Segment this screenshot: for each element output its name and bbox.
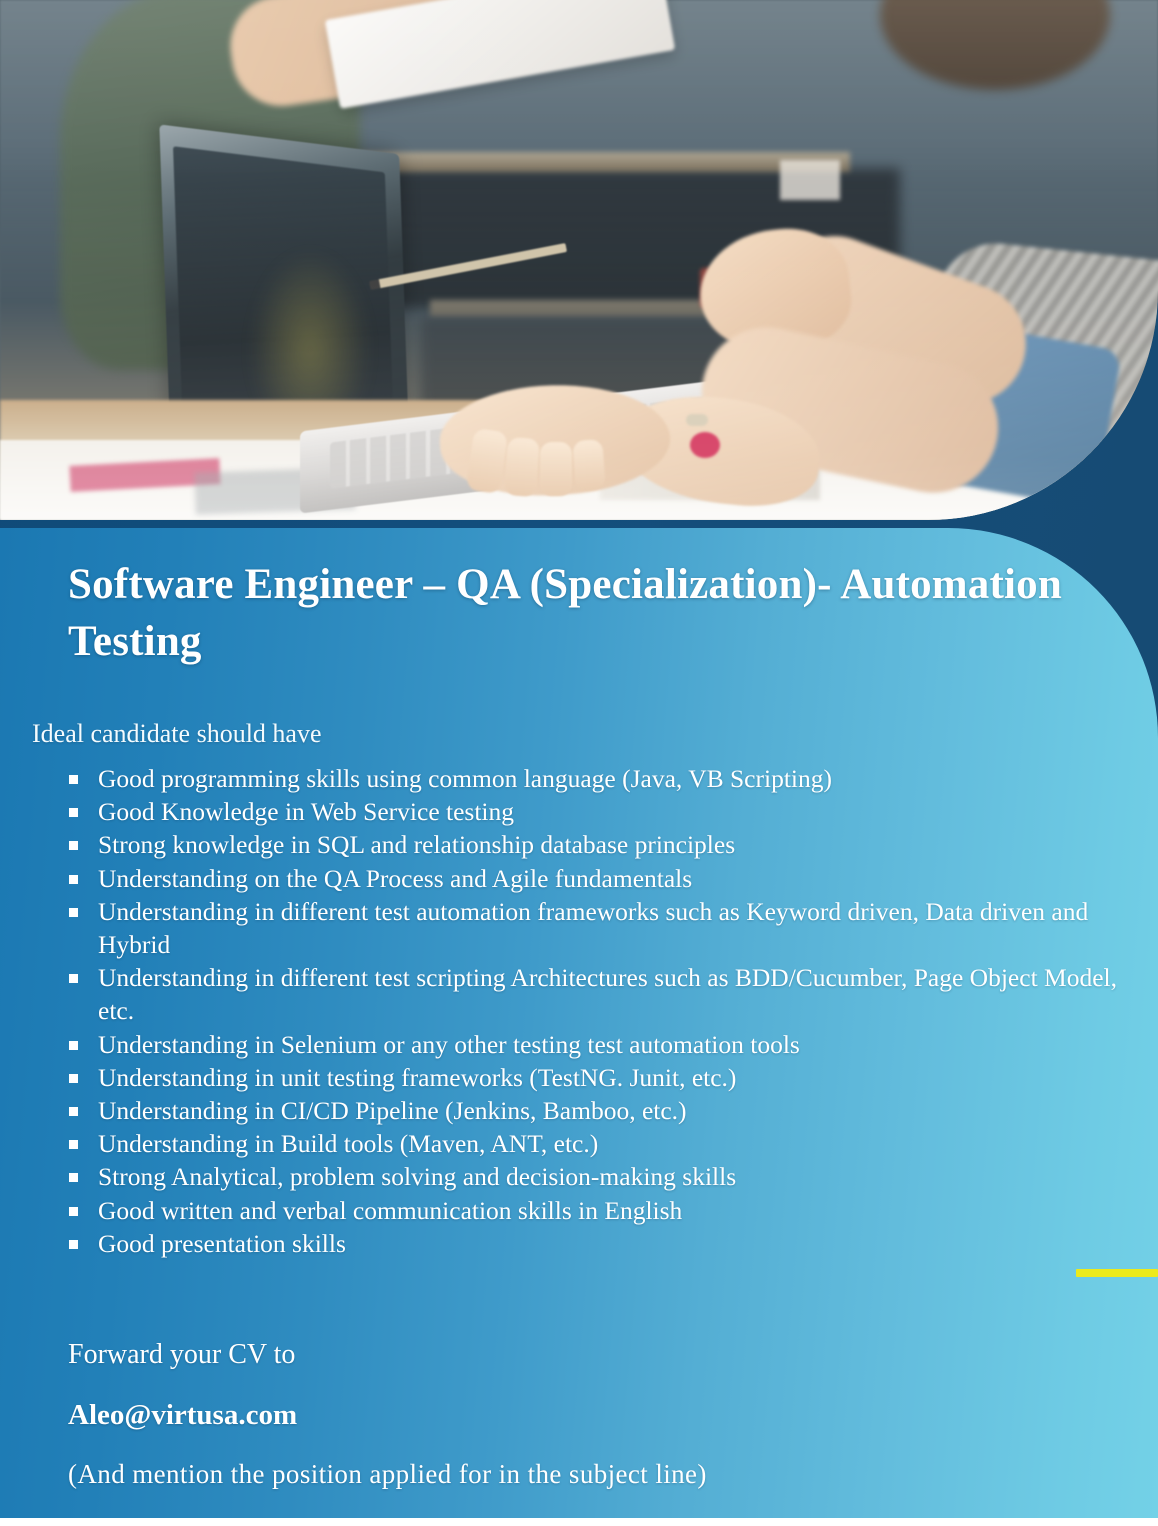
hero-photo <box>0 0 1158 520</box>
list-item: Understanding in unit testing frameworks… <box>62 1061 1137 1094</box>
list-item: Good presentation skills <box>62 1227 1137 1260</box>
content-panel: Software Engineer – QA (Specialization)-… <box>0 528 1158 1518</box>
square-bullet-icon <box>69 1173 78 1182</box>
intro-text: Ideal candidate should have <box>32 718 322 749</box>
list-item: Good written and verbal communication sk… <box>62 1194 1137 1227</box>
list-item-label: Understanding on the QA Process and Agil… <box>98 864 692 893</box>
office-scene-illustration <box>0 0 1158 520</box>
forward-cv-label: Forward your CV to <box>68 1338 1068 1372</box>
list-item: Understanding in different test automati… <box>62 895 1137 961</box>
apply-instructions: Forward your CV to Aleo@virtusa.com (And… <box>68 1338 1068 1491</box>
list-item: Strong knowledge in SQL and relationship… <box>62 828 1137 861</box>
list-item-label: Good Knowledge in Web Service testing <box>98 797 514 826</box>
square-bullet-icon <box>69 1107 78 1116</box>
list-item-label: Understanding in unit testing frameworks… <box>98 1063 736 1092</box>
bottom-white-strip <box>0 1518 1158 1526</box>
list-item-label: Understanding in Selenium or any other t… <box>98 1030 800 1059</box>
list-item: Understanding in different test scriptin… <box>62 961 1137 1027</box>
page-title: Software Engineer – QA (Specialization)-… <box>68 556 1078 670</box>
list-item: Strong Analytical, problem solving and d… <box>62 1160 1137 1193</box>
list-item-label: Understanding in different test automati… <box>98 897 1088 959</box>
list-item: Understanding in Build tools (Maven, ANT… <box>62 1127 1137 1160</box>
list-item-label: Good presentation skills <box>98 1229 346 1258</box>
list-item-label: Strong knowledge in SQL and relationship… <box>98 830 735 859</box>
square-bullet-icon <box>69 808 78 817</box>
square-bullet-icon <box>69 1240 78 1249</box>
square-bullet-icon <box>69 775 78 784</box>
subject-line-note: (And mention the position applied for in… <box>68 1458 1068 1490</box>
square-bullet-icon <box>69 1041 78 1050</box>
list-item-label: Good programming skills using common lan… <box>98 764 832 793</box>
list-item: Understanding in CI/CD Pipeline (Jenkins… <box>62 1094 1137 1127</box>
contact-email[interactable]: Aleo@virtusa.com <box>68 1398 1068 1433</box>
list-item: Understanding on the QA Process and Agil… <box>62 862 1137 895</box>
yellow-accent-bar <box>1076 1269 1158 1277</box>
square-bullet-icon <box>69 908 78 917</box>
list-item-label: Understanding in Build tools (Maven, ANT… <box>98 1129 598 1158</box>
requirements-list: Good programming skills using common lan… <box>62 762 1137 1260</box>
square-bullet-icon <box>69 1207 78 1216</box>
square-bullet-icon <box>69 974 78 983</box>
list-item-label: Understanding in different test scriptin… <box>98 963 1117 1025</box>
square-bullet-icon <box>69 1074 78 1083</box>
list-item: Understanding in Selenium or any other t… <box>62 1028 1137 1061</box>
square-bullet-icon <box>69 841 78 850</box>
list-item: Good Knowledge in Web Service testing <box>62 795 1137 828</box>
list-item: Good programming skills using common lan… <box>62 762 1137 795</box>
square-bullet-icon <box>69 1140 78 1149</box>
square-bullet-icon <box>69 875 78 884</box>
job-posting-flyer: Software Engineer – QA (Specialization)-… <box>0 0 1158 1526</box>
list-item-label: Strong Analytical, problem solving and d… <box>98 1162 736 1191</box>
list-item-label: Understanding in CI/CD Pipeline (Jenkins… <box>98 1096 687 1125</box>
photo-highlight-overlay <box>0 0 1158 520</box>
list-item-label: Good written and verbal communication sk… <box>98 1196 682 1225</box>
